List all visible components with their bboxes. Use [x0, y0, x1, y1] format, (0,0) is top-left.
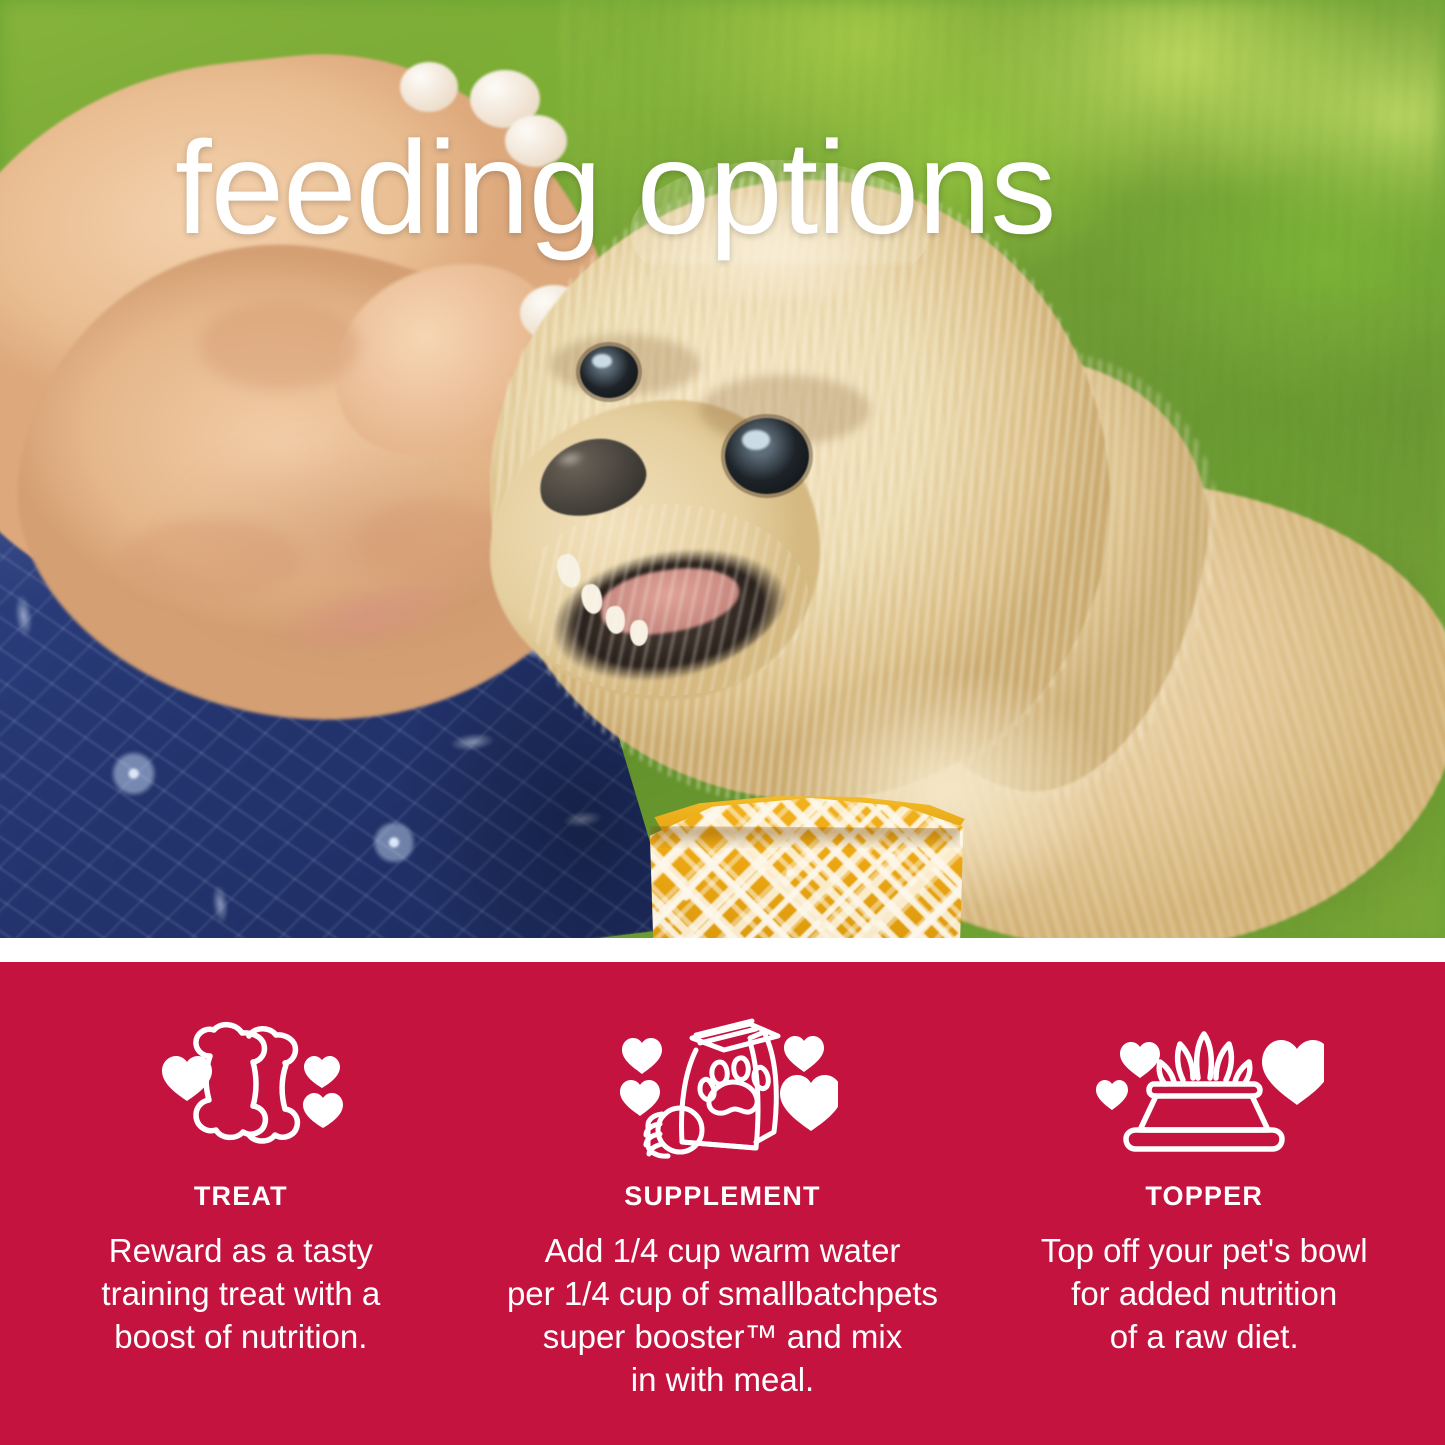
knuckle — [200, 300, 360, 390]
heart-icon — [303, 1093, 343, 1128]
feeding-option-treat: TREAT Reward as a tasty training treat w… — [0, 962, 482, 1445]
food-bowl-topper-icon — [1084, 1018, 1324, 1168]
knuckle — [120, 520, 300, 600]
treat-title: TREAT — [194, 1181, 288, 1212]
heart-icon — [780, 1075, 838, 1131]
heart-icon — [162, 1056, 212, 1101]
bandana-shadow — [650, 826, 960, 848]
heart-icon — [1096, 1080, 1128, 1110]
treat-icon-wrap — [136, 1010, 346, 1175]
heart-icon — [1262, 1040, 1324, 1105]
dog-bone-treat-icon — [136, 1013, 346, 1173]
supplement-bag-icon — [608, 1010, 838, 1175]
dog-eye-highlight — [742, 430, 770, 450]
heart-icon — [620, 1080, 660, 1116]
dog-eye-left — [580, 346, 638, 398]
dog-eye-highlight — [592, 354, 612, 368]
feeding-option-supplement: SUPPLEMENT Add 1/4 cup warm water per 1/… — [482, 962, 964, 1445]
supplement-title: SUPPLEMENT — [624, 1181, 821, 1212]
hero-photo: feeding options — [0, 0, 1445, 938]
supplement-description: Add 1/4 cup warm water per 1/4 cup of sm… — [507, 1230, 938, 1402]
page-title: feeding options — [175, 122, 1055, 254]
heart-icon — [304, 1056, 340, 1088]
photo-panel-divider — [0, 938, 1445, 962]
heart-icon — [784, 1036, 824, 1072]
treat-description: Reward as a tasty training treat with a … — [101, 1230, 380, 1359]
feeding-options-panel: TREAT Reward as a tasty training treat w… — [0, 962, 1445, 1445]
supplement-icon-wrap — [608, 1010, 838, 1175]
topper-title: TOPPER — [1145, 1181, 1263, 1212]
topper-icon-wrap — [1084, 1010, 1324, 1175]
feeding-option-topper: TOPPER Top off your pet's bowl for added… — [963, 962, 1445, 1445]
topper-description: Top off your pet's bowl for added nutrit… — [1041, 1230, 1368, 1359]
heart-icon — [1120, 1042, 1160, 1078]
dog-eye-right — [725, 418, 809, 494]
heart-icon — [622, 1038, 662, 1074]
fingernail — [400, 62, 458, 112]
